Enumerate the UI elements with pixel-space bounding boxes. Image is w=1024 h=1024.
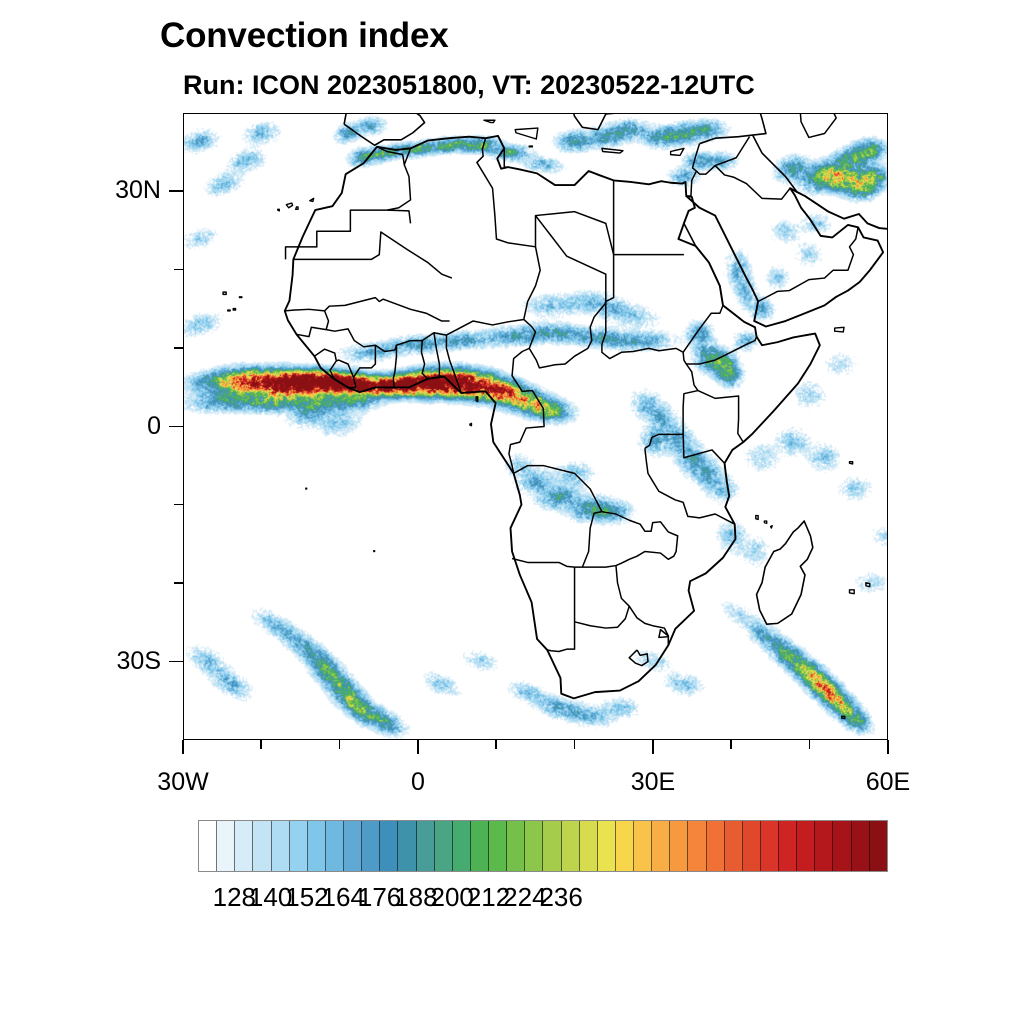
map-plot-area [183, 113, 888, 740]
map-outline [800, 114, 837, 137]
colorbar-cell [652, 821, 670, 871]
map-outline [757, 521, 813, 624]
map-outline [421, 341, 427, 379]
map-outline [758, 227, 858, 301]
colorbar-cell [344, 821, 362, 871]
map-outline [344, 114, 424, 145]
colorbar-cell [199, 821, 217, 871]
map-outline [756, 516, 758, 520]
x-tick-mark [730, 740, 732, 749]
map-outline [753, 135, 798, 192]
map-outline [233, 309, 235, 311]
colorbar-cell [253, 821, 271, 871]
colorbar-cell [453, 821, 471, 871]
map-outline [850, 590, 855, 594]
colorbar-cell [598, 821, 616, 871]
map-outline [645, 391, 698, 449]
colorbar-cell [743, 821, 761, 871]
map-outline [629, 650, 648, 666]
map-outline [310, 198, 314, 201]
colorbar-cell [725, 821, 743, 871]
colorbar-cell [797, 821, 815, 871]
y-tick-label: 30N [41, 176, 161, 205]
colorbar-cell [507, 821, 525, 871]
y-tick-mark [169, 190, 183, 192]
colorbar[interactable] [198, 820, 888, 872]
colorbar-cell [525, 821, 543, 871]
colorbar-cell [398, 821, 416, 871]
map-outline [325, 298, 450, 321]
map-outline [286, 203, 292, 208]
map-outline [393, 345, 396, 387]
map-outline [693, 144, 700, 171]
map-outline [524, 216, 606, 368]
map-outline [228, 310, 230, 311]
x-tick-mark [574, 740, 576, 749]
colorbar-cell [489, 821, 507, 871]
colorbar-tick-label: 236 [539, 882, 582, 913]
map-outline [285, 136, 820, 699]
map-outline [477, 138, 536, 247]
x-tick-mark [260, 740, 262, 749]
map-outline [715, 137, 749, 166]
colorbar-cell [272, 821, 290, 871]
map-outline [344, 114, 742, 130]
map-outline [764, 521, 766, 523]
map-outline [446, 319, 544, 473]
map-outline [404, 148, 410, 164]
map-outline [547, 567, 574, 651]
coastline-and-border-overlay [184, 114, 887, 739]
map-outline [700, 114, 766, 144]
colorbar-cell [380, 821, 398, 871]
y-tick-mark [174, 504, 183, 506]
x-tick-label: 0 [348, 768, 488, 797]
map-outline [354, 345, 376, 387]
x-tick-mark [495, 740, 497, 749]
colorbar-cell [435, 821, 453, 871]
map-outline [536, 212, 614, 302]
colorbar-cell [779, 821, 797, 871]
map-outline [602, 302, 698, 391]
map-outline [470, 423, 472, 425]
map-outline [326, 329, 446, 352]
map-outline [850, 462, 853, 464]
map-outline [842, 716, 845, 718]
map-outline [582, 512, 602, 567]
map-outline [306, 488, 307, 489]
map-outline [575, 606, 630, 628]
y-tick-mark [169, 661, 183, 663]
x-tick-label: 30E [583, 768, 723, 797]
map-outline [686, 337, 756, 364]
map-outline [239, 297, 241, 298]
map-outline [374, 551, 375, 552]
colorbar-cell [235, 821, 253, 871]
colorbar-cell [362, 821, 380, 871]
map-outline [476, 397, 478, 402]
map-outline [296, 327, 326, 336]
x-tick-mark [887, 740, 889, 754]
map-outline [515, 128, 538, 139]
colorbar-cell [852, 821, 870, 871]
y-tick-mark [174, 347, 183, 349]
map-outline [771, 526, 773, 528]
colorbar-cell [761, 821, 779, 871]
x-tick-mark [417, 740, 419, 754]
map-outline [698, 391, 743, 443]
map-outline [484, 120, 495, 122]
colorbar-cell [670, 821, 688, 871]
y-tick-label: 0 [41, 412, 161, 441]
map-outline [278, 209, 280, 211]
colorbar-cell [471, 821, 489, 871]
colorbar-cell [815, 821, 833, 871]
map-outline [296, 207, 298, 209]
map-outline [686, 188, 887, 326]
colorbar-cell [326, 821, 344, 871]
colorbar-cell [562, 821, 580, 871]
colorbar-tick-labels: 128140152164176188200212224236 [198, 882, 888, 916]
x-tick-mark [339, 740, 341, 749]
map-outline [446, 335, 461, 393]
map-outline [602, 148, 623, 153]
map-outline [223, 292, 226, 294]
map-outline [683, 434, 724, 463]
colorbar-cell [217, 821, 235, 871]
colorbar-cell [707, 821, 725, 871]
map-outline [866, 583, 870, 587]
map-outline [529, 146, 532, 147]
chart-subtitle: Run: ICON 2023051800, VT: 20230522-12UTC [183, 70, 755, 101]
colorbar-cell [688, 821, 706, 871]
x-tick-mark [182, 740, 184, 754]
colorbar-cell [634, 821, 652, 871]
x-tick-label: 30W [113, 768, 253, 797]
x-tick-mark [652, 740, 654, 754]
colorbar-cell [543, 821, 561, 871]
map-outline [686, 166, 790, 200]
colorbar-cell [870, 821, 887, 871]
colorbar-cell [290, 821, 308, 871]
colorbar-cell [417, 821, 435, 871]
colorbar-cell [833, 821, 851, 871]
x-tick-mark [809, 740, 811, 749]
colorbar-cell [308, 821, 326, 871]
figure-canvas: Convection index Run: ICON 2023051800, V… [0, 0, 1024, 1024]
map-outline [835, 327, 844, 332]
page-title: Convection index [160, 16, 449, 56]
map-outline [683, 305, 723, 352]
map-outline [671, 148, 684, 155]
y-tick-mark [169, 426, 183, 428]
y-tick-label: 30S [41, 647, 161, 676]
map-outline [434, 333, 444, 377]
colorbar-cell [580, 821, 598, 871]
map-outline [377, 147, 411, 210]
y-tick-mark [174, 582, 183, 584]
colorbar-cell [616, 821, 634, 871]
x-tick-label: 60E [818, 768, 958, 797]
y-tick-mark [174, 269, 183, 271]
map-outline [314, 349, 336, 361]
